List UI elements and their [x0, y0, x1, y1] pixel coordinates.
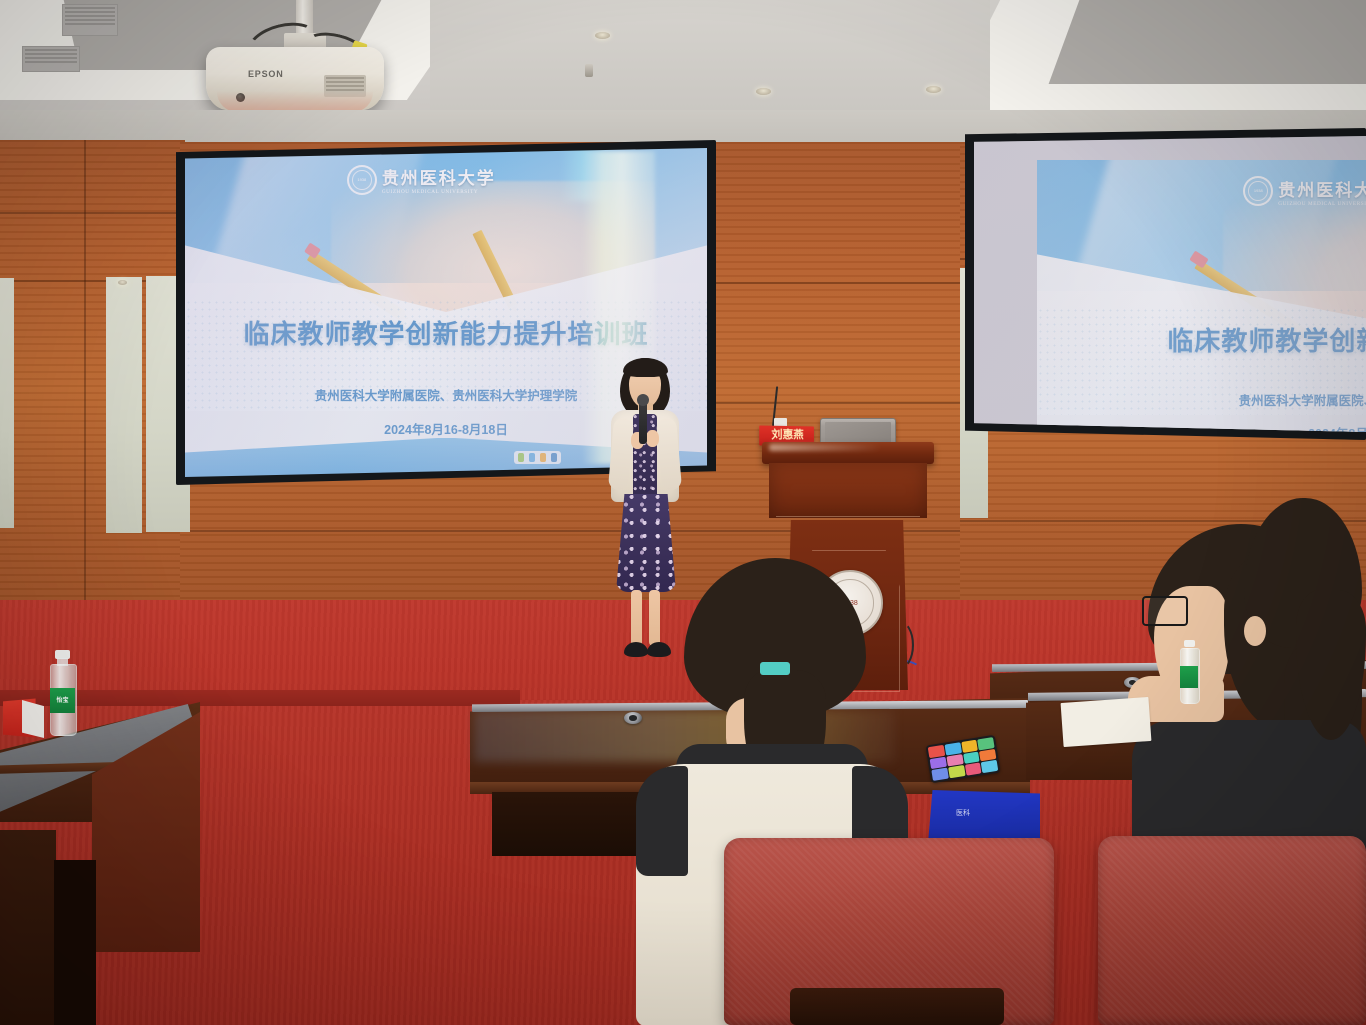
tent-card-white-side [22, 700, 44, 738]
presenter-hand-right [646, 430, 659, 447]
desk-shadow-foreground-left [54, 860, 96, 1025]
university-crest-icon: 1938 [347, 165, 377, 195]
logo-english-name: GUIZHOU MEDICAL UNIVERSITY [382, 189, 496, 195]
bottle-label-left: 怡宝 [50, 688, 75, 713]
logo-english-name-2: GUIZHOU MEDICAL UNIVERSITY [1278, 201, 1366, 207]
podium-trim-line [776, 516, 920, 517]
ceiling-downlight-4 [595, 32, 610, 39]
podium-countertop [762, 442, 934, 464]
projector-lens [236, 93, 245, 102]
ceiling-downlight-2 [926, 86, 941, 93]
attendee-shoulder-panel-left [636, 766, 688, 876]
chair-fabric-texture-right [1098, 836, 1366, 1025]
stage-front-edge [0, 690, 520, 706]
slide-title: 临床教师教学创新能力提升培训班 [185, 314, 707, 351]
projector-body: EPSON [206, 47, 384, 110]
tote-bag-text: 医科 [956, 808, 970, 818]
water-bottle-right [1178, 640, 1200, 704]
slide-university-logo: 1938 贵州医科大学 GUIZHOU MEDICAL UNIVERSITY [347, 164, 496, 195]
attendee-right-far [1244, 498, 1366, 758]
sprinkler-head [585, 64, 593, 77]
crest-year-2: 1938 [1254, 189, 1263, 193]
wall-seam-left-2 [0, 212, 186, 214]
chair-right[interactable] [1098, 836, 1366, 1025]
nameplate-text: 刘惠燕 [771, 430, 803, 441]
wall-inset-panel-left [0, 278, 14, 528]
podium-front-panel [769, 463, 927, 518]
slide-footer-icons [514, 451, 561, 464]
ceiling-downlight-1 [756, 88, 771, 95]
attendee-hair-tie [760, 662, 790, 675]
projector-brand-label: EPSON [248, 69, 284, 79]
ceiling-vent-left-2 [22, 46, 80, 72]
attendee-far-ear [1244, 616, 1266, 646]
chair-frame-front-center [790, 988, 1004, 1025]
microphone-head [637, 394, 649, 406]
bottle-brand-text: 怡宝 [56, 698, 68, 704]
notepaper-right [1061, 697, 1152, 747]
logo-chinese-name: 贵州医科大学 [382, 164, 496, 189]
ceiling-vent-left [62, 4, 118, 36]
bottle-cap-right [1184, 640, 1195, 647]
footer-icon-3 [540, 453, 546, 462]
crest-year: 1938 [357, 178, 366, 182]
university-crest-icon-2: 1938 [1243, 176, 1273, 206]
ceiling-cove-right-inset [1042, 0, 1366, 84]
slide-content-secondary: 1938 贵州医科大学 GUIZHOU MEDICAL UNIVERSITY 临… [1037, 160, 1366, 432]
attendee-far-ponytail [1296, 590, 1366, 740]
secondary-projection-screen[interactable]: 1938 贵州医科大学 GUIZHOU MEDICAL UNIVERSITY 临… [974, 136, 1366, 432]
attendee-right-glasses [1142, 596, 1188, 626]
footer-icon-2 [529, 453, 535, 462]
lecture-hall-photo: EPSON [0, 0, 1366, 1025]
projector-vent [324, 75, 366, 97]
wall-seam-left-1 [84, 140, 86, 680]
water-bottle-left: 怡宝 [46, 650, 78, 735]
bottle-label-right [1180, 666, 1198, 688]
slide-university-logo-2: 1938 贵州医科大学 GUIZHOU MEDICAL UNIVERSITY [1243, 176, 1366, 207]
slide-title-2: 临床教师教学创新能力提升培训班 [1037, 321, 1366, 358]
footer-icon-1 [518, 453, 524, 462]
wall-inset-panel-left-2 [106, 277, 142, 533]
handheld-microphone [639, 400, 647, 444]
logo-chinese-name-2: 贵州医科大学 [1278, 176, 1366, 201]
desk-leg-foreground-left [0, 830, 56, 1025]
footer-icon-4 [551, 453, 557, 462]
slide-subtitle-2: 贵州医科大学附属医院、贵州医科大学护理学院 [1037, 390, 1366, 409]
wall-downlight-left [118, 280, 127, 285]
presenter-fringe [623, 358, 668, 377]
